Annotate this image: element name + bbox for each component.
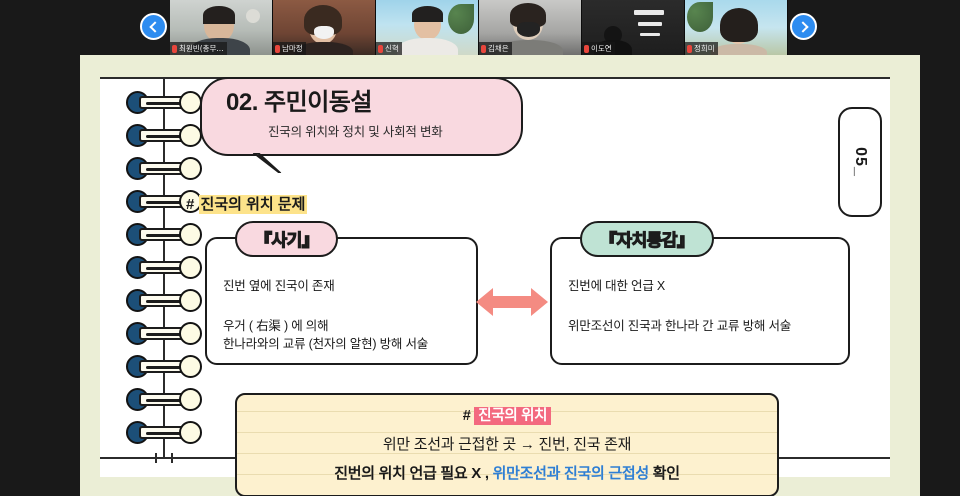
double-headed-arrow-icon <box>476 285 548 319</box>
source-card-body: 진번 옆에 진국이 존재 우거 ( 右渠 ) 에 의해 한나라와의 교류 (천자… <box>223 277 464 353</box>
slide-title-bubble: 02. 주민이동설 진국의 위치와 정치 및 사회적 변화 <box>200 77 523 156</box>
page-number: 05_ <box>851 147 869 177</box>
mic-muted-icon <box>275 45 280 53</box>
participant-nameplate: 김채은 <box>479 42 512 55</box>
participant-name: 김채은 <box>488 44 509 53</box>
page-number-tab: 05_ <box>838 107 882 217</box>
mic-muted-icon <box>584 45 589 53</box>
participant-filmstrip: 최원빈(총무... 남마정 <box>0 0 960 55</box>
conclusion-hash: # <box>463 408 471 424</box>
mic-muted-icon <box>172 45 177 53</box>
participant-nameplate: 남마정 <box>273 42 306 55</box>
conclusion-line-2: 진번의 위치 언급 필요 X , 위만조선과 진국의 근접성 확인 <box>237 462 777 483</box>
card-line: 한나라와의 교류 (천자의 알현) 방해 서술 <box>223 335 464 353</box>
source-card-label: 『사기』 <box>235 221 338 257</box>
mic-muted-icon <box>687 45 692 53</box>
chevron-right-icon <box>797 21 808 32</box>
conclusion-line-1: 위만 조선과 근접한 곳 → 진번, 진국 존재 <box>237 433 777 454</box>
slide-title: 02. 주민이동설 <box>226 89 503 117</box>
conclusion-heading: # 진국의 위치 <box>237 404 777 425</box>
next-participants-button[interactable] <box>790 13 817 40</box>
conclusion-line-2-a: 진번의 위치 언급 필요 X , <box>334 465 492 482</box>
notebook-page: 02. 주민이동설 진국의 위치와 정치 및 사회적 변화 05_ # 진국의 … <box>100 77 890 477</box>
slide-title-number: 02. <box>226 89 258 116</box>
participant-nameplate: 최원빈(총무... <box>170 42 227 55</box>
participant-tile[interactable]: 정희미 <box>685 0 788 55</box>
card-line: 진번 옆에 진국이 존재 <box>223 277 464 295</box>
source-card-jachitonggam: 『자치통감』 진번에 대한 언급 X 위만조선이 진국과 한나라 간 교류 방해… <box>550 237 850 365</box>
slide-title-heading: 주민이동설 <box>264 89 372 116</box>
source-card-label: 『자치통감』 <box>580 221 714 257</box>
source-card-body: 진번에 대한 언급 X 위만조선이 진국과 한나라 간 교류 방해 서술 <box>568 277 836 335</box>
mic-muted-icon <box>378 45 383 53</box>
participant-tile[interactable]: 김채은 <box>479 0 582 55</box>
conclusion-line-2-b: 확인 <box>649 465 680 482</box>
section-heading-hash: # <box>186 196 194 213</box>
screen: 최원빈(총무... 남마정 <box>0 0 960 496</box>
participant-name: 이도연 <box>591 44 612 53</box>
prev-participants-button[interactable] <box>140 13 167 40</box>
section-heading-text: 진국의 위치 문제 <box>199 195 308 214</box>
participant-tile[interactable]: 신혁 <box>376 0 479 55</box>
card-line: 우거 ( 右渠 ) 에 의해 <box>223 317 464 335</box>
participant-tiles: 최원빈(총무... 남마정 <box>170 0 788 55</box>
card-line: 위만조선이 진국과 한나라 간 교류 방해 서술 <box>568 317 836 335</box>
participant-tile[interactable]: 남마정 <box>273 0 376 55</box>
section-heading: # 진국의 위치 문제 <box>186 193 307 214</box>
bubble-tail-icon <box>252 153 282 173</box>
participant-name: 신혁 <box>385 44 399 53</box>
conclusion-heading-text: 진국의 위치 <box>474 407 551 425</box>
conclusion-box: # 진국의 위치 위만 조선과 근접한 곳 → 진번, 진국 존재 진번의 위치… <box>235 393 779 496</box>
participant-name: 정희미 <box>694 44 715 53</box>
participant-tile[interactable]: 이도연 <box>582 0 685 55</box>
participant-name: 최원빈(총무... <box>179 44 224 53</box>
participant-nameplate: 이도연 <box>582 42 615 55</box>
source-card-sagi: 『사기』 진번 옆에 진국이 존재 우거 ( 右渠 ) 에 의해 한나라와의 교… <box>205 237 478 365</box>
mic-muted-icon <box>481 45 486 53</box>
participant-tile[interactable]: 최원빈(총무... <box>170 0 273 55</box>
participant-nameplate: 정희미 <box>685 42 718 55</box>
card-line: 진번에 대한 언급 X <box>568 277 836 295</box>
participant-nameplate: 신혁 <box>376 42 402 55</box>
conclusion-line-2-emphasis: 위만조선과 진국의 근접성 <box>493 465 649 482</box>
shared-slide: 02. 주민이동설 진국의 위치와 정치 및 사회적 변화 05_ # 진국의 … <box>80 55 920 496</box>
slide-subtitle: 진국의 위치와 정치 및 사회적 변화 <box>268 121 503 140</box>
relation-arrow <box>476 285 548 319</box>
participant-name: 남마정 <box>282 44 303 53</box>
chevron-left-icon <box>149 21 160 32</box>
